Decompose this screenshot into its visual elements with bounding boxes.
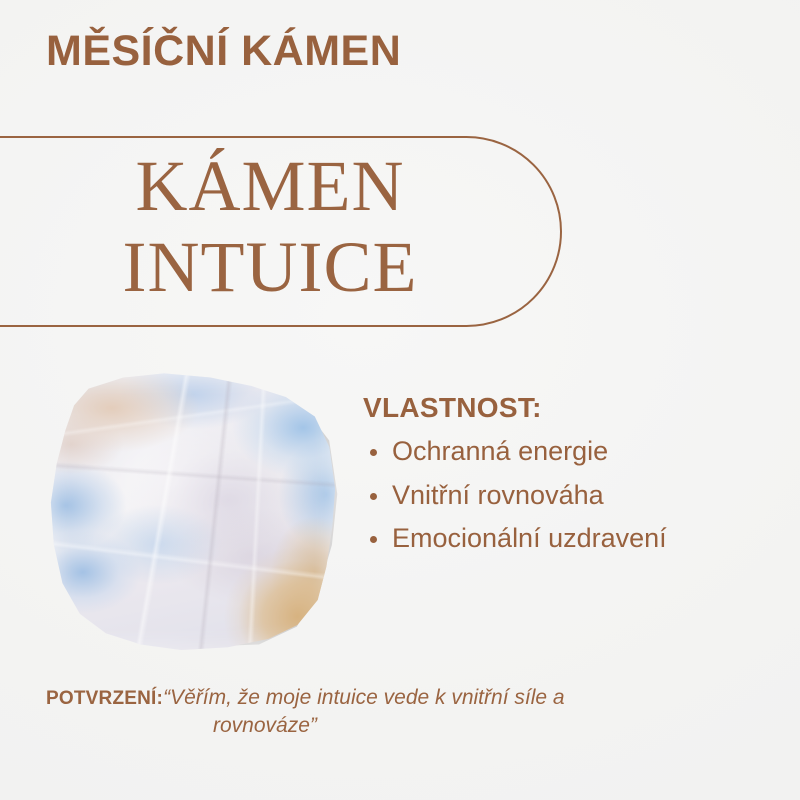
- affirmation-quote-line-1: “Věřím, že moje intuice vede k vnitřní s…: [163, 686, 565, 709]
- list-item-label: Ochranná energie: [392, 436, 608, 466]
- moonstone-fracture-lines: [48, 372, 338, 650]
- list-item-label: Vnitřní rovnováha: [392, 480, 604, 510]
- bullet-icon: [370, 449, 377, 456]
- hero-heading-line-2: INTUICE: [0, 231, 540, 304]
- list-item: Emocionální uzdravení: [392, 517, 783, 561]
- properties-list: Ochranná energie Vnitřní rovnováha Emoci…: [363, 430, 783, 561]
- hero-heading-line-1: KÁMEN: [0, 150, 540, 223]
- moonstone-image: [44, 366, 354, 662]
- affirmation-section: POTVRZENÍ:“Věřím, že moje intuice vede k…: [46, 681, 746, 738]
- properties-heading: VLASTNOST:: [363, 392, 783, 424]
- hero-heading: KÁMEN INTUICE: [0, 150, 540, 305]
- poster-canvas: MĚSÍČNÍ KÁMEN KÁMEN INTUICE VLASTNOST: O…: [0, 0, 800, 800]
- affirmation-quote-line-2: rovnováze”: [46, 714, 746, 738]
- moonstone-body: [48, 372, 338, 650]
- properties-section: VLASTNOST: Ochranná energie Vnitřní rovn…: [363, 392, 783, 561]
- affirmation-label: POTVRZENÍ:: [46, 688, 163, 709]
- bullet-icon: [370, 493, 377, 500]
- list-item-label: Emocionální uzdravení: [392, 523, 667, 553]
- bullet-icon: [370, 536, 377, 543]
- list-item: Ochranná energie: [392, 430, 783, 474]
- list-item: Vnitřní rovnováha: [392, 474, 783, 518]
- page-title: MĚSÍČNÍ KÁMEN: [46, 27, 401, 75]
